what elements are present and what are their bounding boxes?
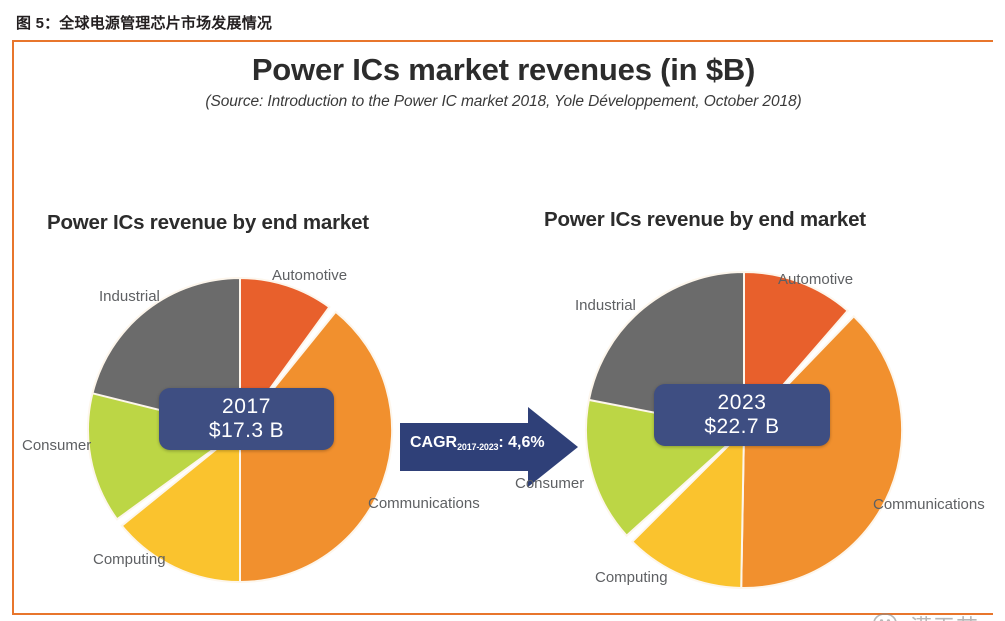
center-badge-2023: 2023 $22.7 B bbox=[654, 384, 830, 446]
cagr-subscript: 2017-2023 bbox=[457, 442, 498, 452]
caption-divider bbox=[12, 40, 993, 42]
label-computing-2023: Computing bbox=[595, 569, 668, 586]
center-badge-2017: 2017 $17.3 B bbox=[159, 388, 334, 450]
cagr-prefix: CAGR bbox=[410, 434, 457, 451]
wechat-icon bbox=[872, 612, 906, 621]
label-industrial-2017: Industrial bbox=[99, 288, 160, 305]
watermark-text: 满天芯 bbox=[910, 610, 979, 621]
cagr-label: CAGR2017-2023: 4,6% bbox=[410, 434, 550, 452]
figure-caption: 图 5：全球电源管理芯片市场发展情况 bbox=[16, 12, 272, 33]
watermark: 满天芯 bbox=[872, 606, 1005, 621]
label-communications-2017: Communications bbox=[368, 495, 480, 512]
label-automotive-2023: Automotive bbox=[778, 271, 853, 288]
label-consumer-2017: Consumer bbox=[22, 437, 91, 454]
label-consumer-2023: Consumer bbox=[515, 475, 584, 492]
badge-value-2017: $17.3 B bbox=[209, 419, 284, 443]
label-automotive-2017: Automotive bbox=[272, 267, 347, 284]
label-communications-2023: Communications bbox=[873, 496, 985, 513]
left-panel-heading: Power ICs revenue by end market bbox=[47, 211, 369, 235]
right-panel-heading: Power ICs revenue by end market bbox=[544, 208, 866, 232]
badge-value-2023: $22.7 B bbox=[704, 415, 779, 439]
chart-figure: Power ICs market revenues (in $B) (Sourc… bbox=[14, 43, 993, 613]
label-computing-2017: Computing bbox=[93, 551, 166, 568]
label-industrial-2023: Industrial bbox=[575, 297, 636, 314]
badge-year-2023: 2023 bbox=[717, 391, 766, 415]
chart-subtitle-source: (Source: Introduction to the Power IC ma… bbox=[14, 93, 993, 111]
chart-title: Power ICs market revenues (in $B) bbox=[14, 52, 993, 88]
footer-divider bbox=[12, 613, 993, 615]
cagr-value: : 4,6% bbox=[498, 434, 544, 451]
badge-year-2017: 2017 bbox=[222, 395, 271, 419]
caption-bar: 图 5：全球电源管理芯片市场发展情况 bbox=[0, 0, 1005, 43]
figure-page: 图 5：全球电源管理芯片市场发展情况 Power ICs market reve… bbox=[0, 0, 1005, 621]
